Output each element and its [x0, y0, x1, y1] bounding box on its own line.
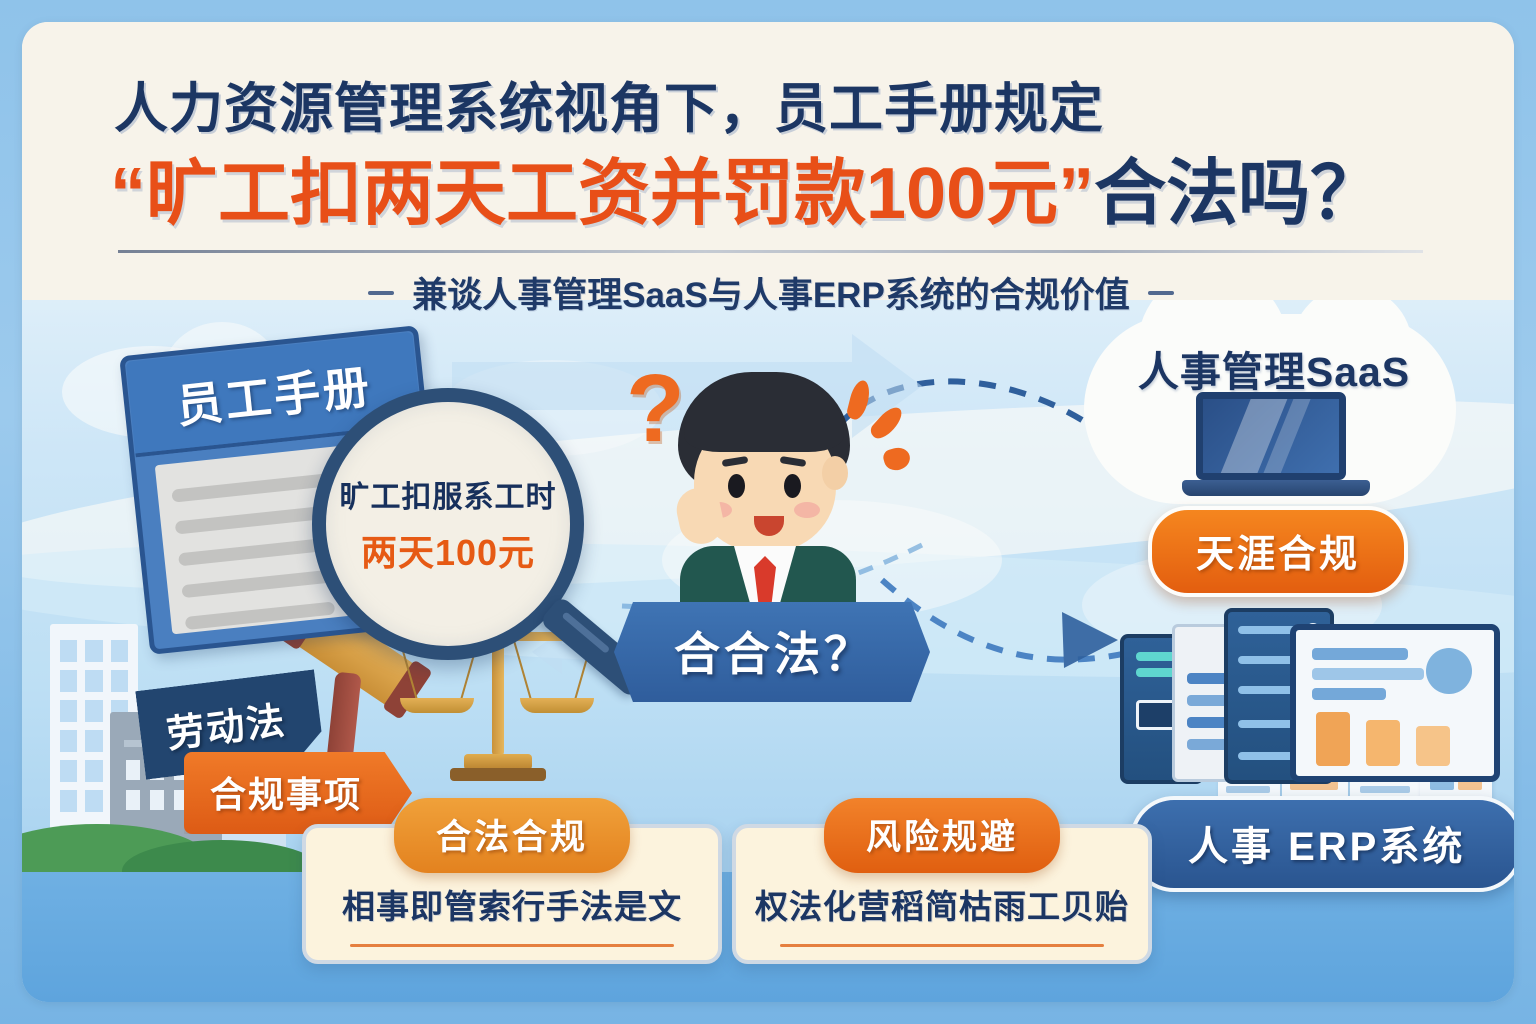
dashboard-pie	[1426, 648, 1472, 694]
erp-group: 人事 ERP系统	[1112, 600, 1512, 860]
info-card[interactable]: 合法合规 相事即管索行手法是文	[302, 824, 722, 964]
info-card[interactable]: 风险规避 权法化营稻简枯雨工贝贻	[732, 824, 1152, 964]
magnifier-text-line2: 两天100元	[361, 524, 535, 576]
laptop-base	[1182, 480, 1370, 496]
dashboard-bar	[1416, 726, 1450, 766]
page-title-line1: 人力资源管理系统视角下，员工手册规定	[114, 64, 1104, 143]
center-question-banner[interactable]: 合合法？	[614, 602, 930, 702]
page-title-tail: 合法吗？	[1094, 154, 1382, 234]
person-eye	[728, 474, 745, 498]
info-card-headline: 相事即管索行手法是文	[306, 880, 718, 928]
person-eye	[784, 474, 801, 498]
magnifier-text-line1: 旷工扣服系工时	[340, 472, 557, 516]
laptop-icon	[1196, 392, 1356, 502]
dash-left-icon	[368, 291, 394, 295]
person-cheek	[794, 502, 820, 518]
laptop-screen	[1196, 392, 1346, 480]
scales-pan-right	[520, 698, 594, 713]
info-card-headline: 权法化营稻简枯雨工贝贻	[736, 880, 1148, 928]
header: 人力资源管理系统视角下，员工手册规定 “旷工扣两天工资并罚款100元”合法吗？ …	[22, 22, 1514, 300]
dashboard-bar	[1366, 720, 1400, 766]
scales-foot	[450, 768, 546, 781]
page-title-line2: “旷工扣两天工资并罚款100元”合法吗？	[110, 134, 1382, 239]
page-title-quoted: “旷工扣两天工资并罚款100元”	[110, 154, 1094, 234]
spark-icon	[845, 378, 872, 421]
question-mark-icon: ?	[626, 354, 685, 464]
saas-group: 人事管理SaaS 天涯合规	[1074, 310, 1474, 590]
thinking-person-illustration: ?	[642, 360, 892, 620]
erp-badge[interactable]: 人事 ERP系统	[1130, 796, 1514, 892]
person-ear	[822, 456, 848, 490]
poster-card: 人力资源管理系统视角下，员工手册规定 “旷工扣两天工资并罚款100元”合法吗？ …	[22, 22, 1514, 1002]
dashboard-line	[1312, 668, 1424, 680]
illustration-scene: 员工手册 旷工扣服系工时 两天100元	[22, 300, 1514, 1002]
info-card-pill[interactable]: 合法合规	[394, 798, 630, 873]
compliance-tag[interactable]: 合规事项	[184, 752, 412, 834]
title-divider	[118, 250, 1423, 253]
info-card-underline	[780, 944, 1104, 947]
dashboard-monitor-icon	[1290, 624, 1500, 782]
dashboard-line	[1312, 648, 1408, 660]
dashboard-line	[1312, 688, 1386, 700]
saas-badge[interactable]: 天涯合规	[1148, 506, 1408, 597]
subtitle-row: 兼谈人事管理SaaS与人事ERP系统的合规价值	[22, 267, 1514, 318]
person-fringe	[684, 376, 844, 452]
scales-pan-left	[400, 698, 474, 713]
page-subtitle: 兼谈人事管理SaaS与人事ERP系统的合规价值	[412, 267, 1130, 318]
magnifier-glass: 旷工扣服系工时 两天100元	[312, 388, 584, 660]
info-card-underline	[350, 944, 674, 947]
poster-background: 人力资源管理系统视角下，员工手册规定 “旷工扣两天工资并罚款100元”合法吗？ …	[0, 0, 1536, 1024]
dashboard-bar	[1316, 712, 1350, 766]
info-card-pill[interactable]: 风险规避	[824, 798, 1060, 873]
saas-cloud-label: 人事管理SaaS	[1074, 338, 1474, 398]
dash-right-icon	[1148, 291, 1174, 295]
